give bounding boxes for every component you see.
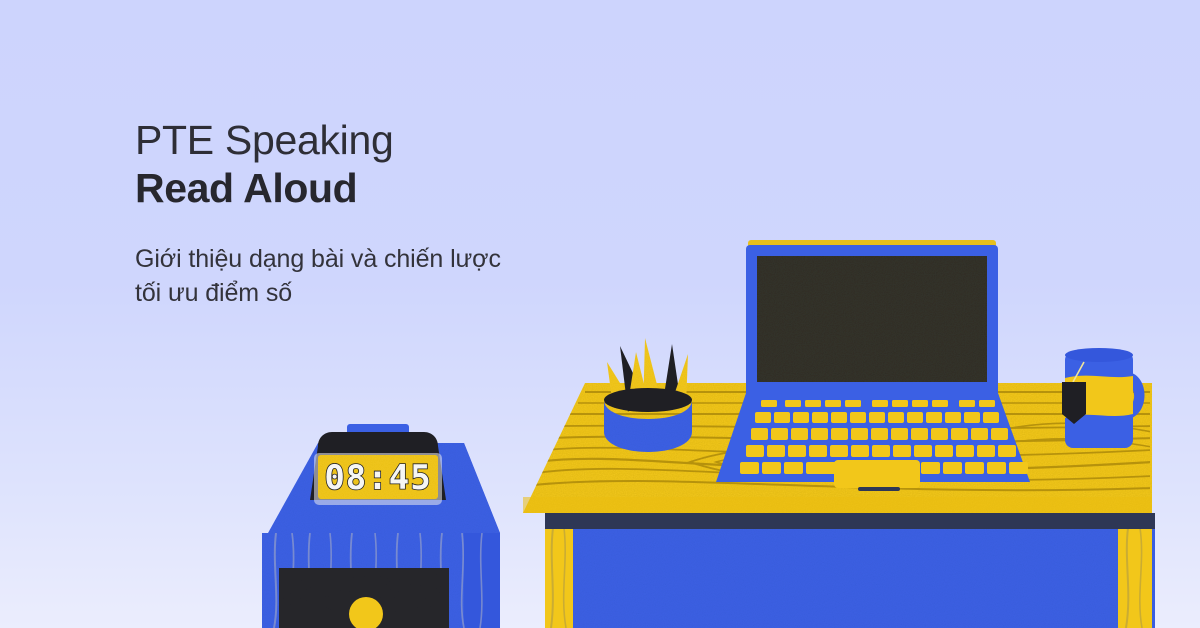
clock-time-text: 08:45 (324, 458, 431, 498)
laptop (716, 240, 1030, 491)
desk-front-panel (545, 528, 1155, 628)
desk-workspace-illustration: 08:45 (0, 0, 1200, 628)
mug-rim (1065, 348, 1133, 362)
laptop-screen (757, 256, 987, 382)
desk-left-leg (545, 528, 573, 628)
subtitle-line2: tối ưu điểm số (135, 276, 675, 311)
digital-alarm-clock: 08:45 (310, 424, 446, 505)
laptop-function-row (761, 400, 995, 407)
subtitle-line1: Giới thiệu dạng bài và chiến lược (135, 242, 675, 277)
desk-right-leg (1118, 528, 1152, 628)
poster-canvas: 08:45 (0, 0, 1200, 628)
headline-block: PTE Speaking Read Aloud Giới thiệu dạng … (135, 118, 755, 311)
pot-rim (604, 388, 692, 412)
subtitle: Giới thiệu dạng bài và chiến lược tối ưu… (135, 242, 675, 311)
page-title-line1: PTE Speaking (135, 118, 755, 164)
laptop-front-notch (858, 487, 900, 491)
desk-top-bevel (523, 497, 1152, 513)
laptop-trackpad (834, 460, 920, 488)
desk-top-shadow (545, 513, 1155, 529)
tea-mug (1062, 348, 1145, 448)
page-title-line2: Read Aloud (135, 166, 755, 212)
